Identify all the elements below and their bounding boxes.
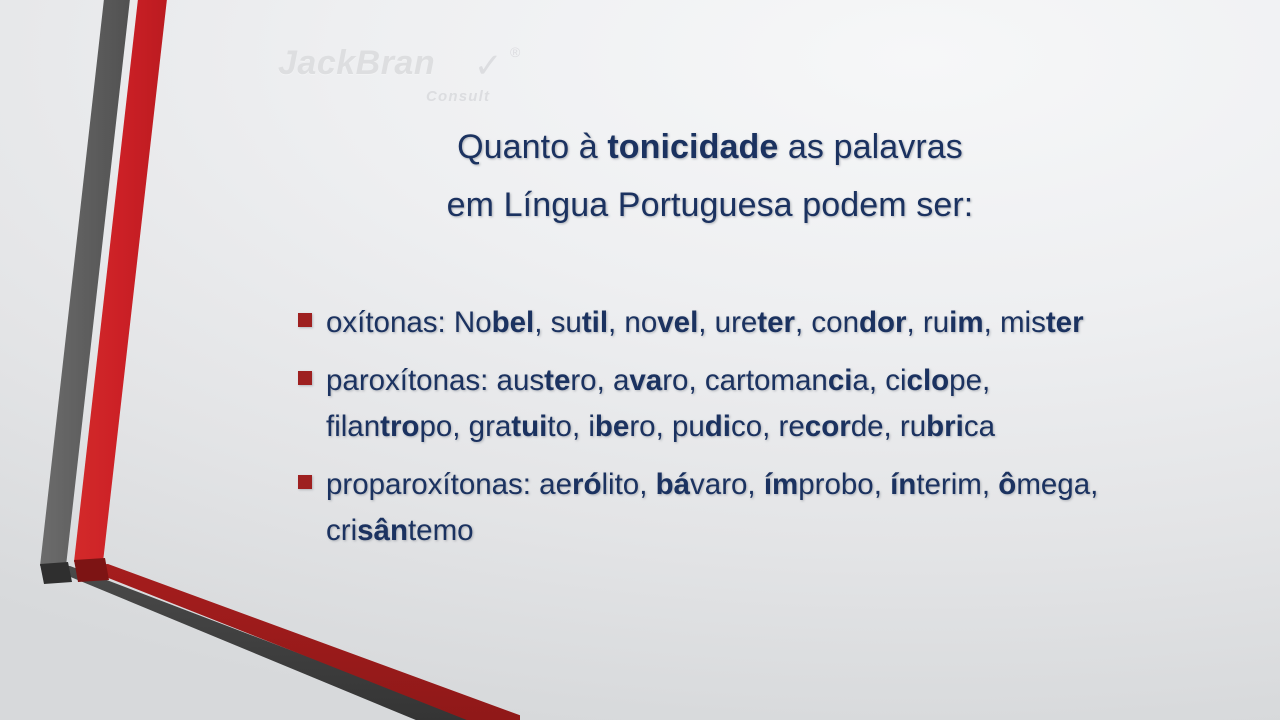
watermark-subtitle-text: Consult <box>426 88 490 105</box>
paroxitonas-text: paroxítonas: austero, avaro, cartomancia… <box>326 358 1132 450</box>
word-run: to, i <box>547 410 595 443</box>
registered-trademark-icon: ® <box>510 44 520 60</box>
word-run: , ru <box>907 306 950 339</box>
gray-stripe-elbow <box>40 562 72 584</box>
word-run: po, gra <box>419 410 511 443</box>
word-run: terim, <box>916 468 998 501</box>
word-run: ro, a <box>570 364 629 397</box>
stressed-syllable: dor <box>859 306 907 339</box>
gray-stripe-upper <box>40 0 131 566</box>
word-run: de, ru <box>851 410 926 443</box>
slide-title-line-2: em Língua Portuguesa podem ser: <box>300 176 1120 234</box>
stressed-syllable: im <box>949 306 983 339</box>
word-run: oxítonas: No <box>326 306 492 339</box>
slide-title: Quanto à tonicidade as palavras em Língu… <box>300 118 1120 234</box>
stressed-syllable: bel <box>492 306 535 339</box>
check-icon: ✓ <box>474 46 503 86</box>
word-run: temo <box>408 514 474 547</box>
stressed-syllable: ô <box>998 468 1016 501</box>
slide-title-line-1-pre: Quanto à <box>457 128 607 166</box>
word-run: , con <box>795 306 859 339</box>
red-stripe-upper <box>74 0 168 562</box>
stressed-syllable: va <box>629 364 662 397</box>
stressed-syllable: bri <box>926 410 964 443</box>
watermark-brand-text: JackBran <box>278 44 435 83</box>
stressed-syllable: be <box>595 410 629 443</box>
square-bullet-icon <box>298 313 312 327</box>
stressed-syllable: vel <box>657 306 698 339</box>
stressed-syllable: clo <box>907 364 950 397</box>
word-run: , su <box>534 306 582 339</box>
word-run: a, ci <box>852 364 906 397</box>
word-run: co, re <box>731 410 805 443</box>
gray-stripe-lower <box>44 566 500 720</box>
stressed-syllable: te <box>544 364 570 397</box>
bullet-list: oxítonas: Nobel, sutil, novel, ureter, c… <box>296 300 1132 566</box>
stressed-syllable: bá <box>656 468 690 501</box>
stressed-syllable: tro <box>380 410 419 443</box>
stressed-syllable: ró <box>572 468 602 501</box>
proparoxitonas-text: proparoxítonas: aerólito, bávaro, ímprob… <box>326 462 1132 554</box>
stressed-syllable: ci <box>828 364 853 397</box>
stressed-syllable: sân <box>357 514 408 547</box>
stressed-syllable: ín <box>890 468 916 501</box>
square-bullet-icon <box>298 475 312 489</box>
list-item: oxítonas: Nobel, sutil, novel, ureter, c… <box>296 300 1132 346</box>
stressed-syllable: ím <box>764 468 798 501</box>
red-stripe-lower <box>78 564 520 720</box>
red-stripe-elbow <box>74 558 109 582</box>
oxitonas-text: oxítonas: Nobel, sutil, novel, ureter, c… <box>326 300 1132 346</box>
list-item: paroxítonas: austero, avaro, cartomancia… <box>296 358 1132 450</box>
word-run: proparoxítonas: ae <box>326 468 572 501</box>
stressed-syllable: di <box>705 410 731 443</box>
square-bullet-icon <box>298 371 312 385</box>
slide-title-line-1: Quanto à tonicidade as palavras <box>300 118 1120 176</box>
stressed-syllable: til <box>582 306 608 339</box>
word-run: , mis <box>984 306 1046 339</box>
word-run: paroxítonas: aus <box>326 364 544 397</box>
stressed-syllable: ter <box>1046 306 1084 339</box>
slide-canvas: JackBran ✓ ® Consult Quanto à tonicidade… <box>0 0 1280 720</box>
stressed-syllable: cor <box>805 410 851 443</box>
word-run: probo, <box>798 468 890 501</box>
watermark-logo: JackBran ✓ ® Consult <box>278 44 538 122</box>
stressed-syllable: ter <box>757 306 795 339</box>
slide-title-keyword: tonicidade <box>607 128 778 166</box>
word-run: ca <box>964 410 995 443</box>
list-item: proparoxítonas: aerólito, bávaro, ímprob… <box>296 462 1132 554</box>
word-run: varo, <box>690 468 764 501</box>
stressed-syllable: tui <box>511 410 547 443</box>
slide-title-line-1-post: as palavras <box>778 128 963 166</box>
word-run: , no <box>608 306 657 339</box>
word-run: lito, <box>602 468 656 501</box>
word-run: , ure <box>698 306 757 339</box>
word-run: ro, pu <box>629 410 704 443</box>
word-run: ro, cartoman <box>662 364 828 397</box>
